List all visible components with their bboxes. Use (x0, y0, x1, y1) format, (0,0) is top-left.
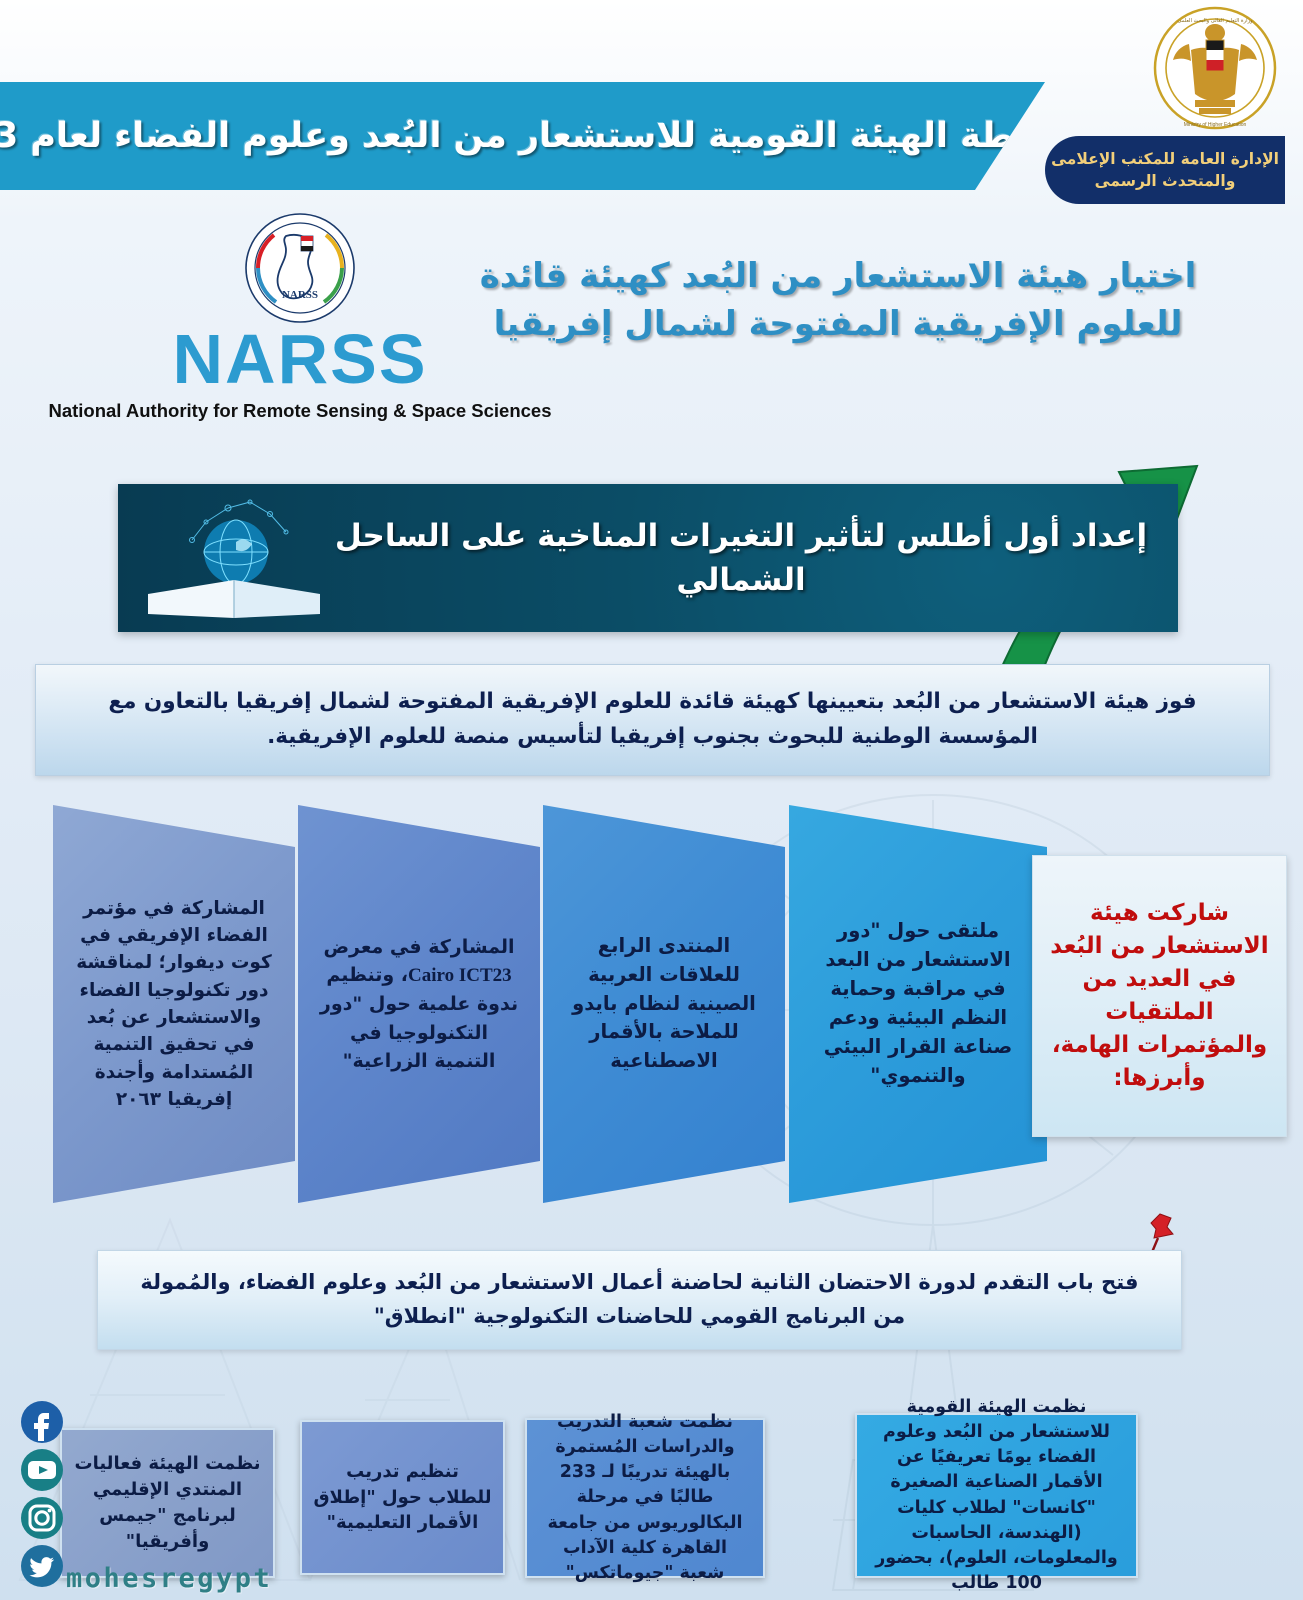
event-panel-ecosystem-forum: ملتقى حول "دور الاستشعار من البعد في مرا… (789, 805, 1047, 1203)
event-panel-cairo-ict23: المشاركة في معرض Cairo ICT23، وتنظيم ندو… (298, 805, 540, 1203)
event-panel-text: المشاركة في معرض Cairo ICT23، وتنظيم ندو… (318, 933, 520, 1075)
atlas-banner-text: إعداد أول أطلس لتأثير التغيرات المناخية … (330, 514, 1178, 602)
infographic-page: حصاد أنشطة الهيئة القومية للاستشعار من ا… (0, 0, 1303, 1600)
event-panel-text: المنتدى الرابع للعلاقات العربية الصينية … (563, 932, 765, 1076)
press-office-badge: الإدارة العامة للمكتب الإعلامى والمتحدث … (1045, 136, 1285, 204)
incubator-statement-box: فتح باب التقدم لدورة الاحتضان الثانية لح… (97, 1250, 1182, 1350)
svg-text:وزارة التعليم العالى والبحث ال: وزارة التعليم العالى والبحث العلمى (1177, 18, 1253, 24)
instagram-icon[interactable] (20, 1496, 64, 1540)
bottom-card-cansat-open-day: نظمت الهيئة القومية للاستشعار من البُعد … (855, 1413, 1138, 1578)
events-callout-box: شاركت هيئة الاستشعار من البُعد في العديد… (1032, 855, 1287, 1137)
facebook-icon[interactable] (20, 1400, 64, 1444)
twitter-icon[interactable] (20, 1544, 64, 1588)
svg-text:NARSS: NARSS (282, 289, 318, 301)
header-band: حصاد أنشطة الهيئة القومية للاستشعار من ا… (0, 82, 1045, 190)
bottom-card-text: تنظيم تدريب للطلاب حول "إطلاق الأقمار ال… (313, 1459, 492, 1537)
event-panel-text-before: المشاركة في معرض (323, 936, 514, 958)
social-links (8, 1400, 64, 1592)
social-handle: mohesregypt (66, 1563, 272, 1594)
events-callout-text: شاركت هيئة الاستشعار من البُعد في العديد… (1045, 897, 1274, 1096)
event-panel-ltr-token: Cairo ICT23 (408, 962, 512, 990)
page-title: حصاد أنشطة الهيئة القومية للاستشعار من ا… (0, 116, 1179, 156)
narss-full-name: National Authority for Remote Sensing & … (35, 400, 565, 422)
globe-book-icon (118, 488, 330, 628)
bottom-card-text: نظمت شعبة التدريب والدراسات المُستمرة با… (538, 1410, 752, 1586)
bottom-card-geomatics-training: نظمت شعبة التدريب والدراسات المُستمرة با… (525, 1418, 765, 1578)
event-panel-text: ملتقى حول "دور الاستشعار من البعد في مرا… (809, 917, 1027, 1090)
bottom-card-gmes-africa-forum: نظمت الهيئة فعاليات المنتدي الإقليمي لبر… (60, 1428, 275, 1578)
bottom-card-text: نظمت الهيئة فعاليات المنتدي الإقليمي لبر… (73, 1451, 262, 1555)
event-panel-arab-china-beidou-forum: المنتدى الرابع للعلاقات العربية الصينية … (543, 805, 785, 1203)
bottom-card-educational-satellites-training: تنظيم تدريب للطلاب حول "إطلاق الأقمار ال… (300, 1420, 505, 1575)
main-headline: اختيار هيئة الاستشعار من البُعد كهيئة قا… (468, 252, 1208, 349)
press-office-label: الإدارة العامة للمكتب الإعلامى والمتحدث … (1045, 148, 1285, 192)
event-panel-text: المشاركة في مؤتمر الفضاء الإفريقي في كوت… (73, 895, 275, 1114)
incubator-statement-text: فتح باب التقدم لدورة الاحتضان الثانية لح… (122, 1266, 1157, 1333)
event-panel-african-space-conference: المشاركة في مؤتمر الفضاء الإفريقي في كوت… (53, 805, 295, 1203)
svg-text:Ministry of Higher Education: Ministry of Higher Education (1184, 122, 1247, 128)
bottom-card-text: نظمت الهيئة القومية للاستشعار من البُعد … (868, 1395, 1125, 1597)
youtube-icon[interactable] (20, 1448, 64, 1492)
win-statement-text: فوز هيئة الاستشعار من البُعد بتعيينها كه… (63, 685, 1243, 755)
win-statement-box: فوز هيئة الاستشعار من البُعد بتعيينها كه… (35, 664, 1270, 776)
narss-logo-icon: NARSS (244, 212, 356, 324)
ministry-emblem-icon: وزارة التعليم العالى والبحث العلمى Minis… (1149, 4, 1281, 134)
atlas-banner: إعداد أول أطلس لتأثير التغيرات المناخية … (118, 484, 1178, 632)
